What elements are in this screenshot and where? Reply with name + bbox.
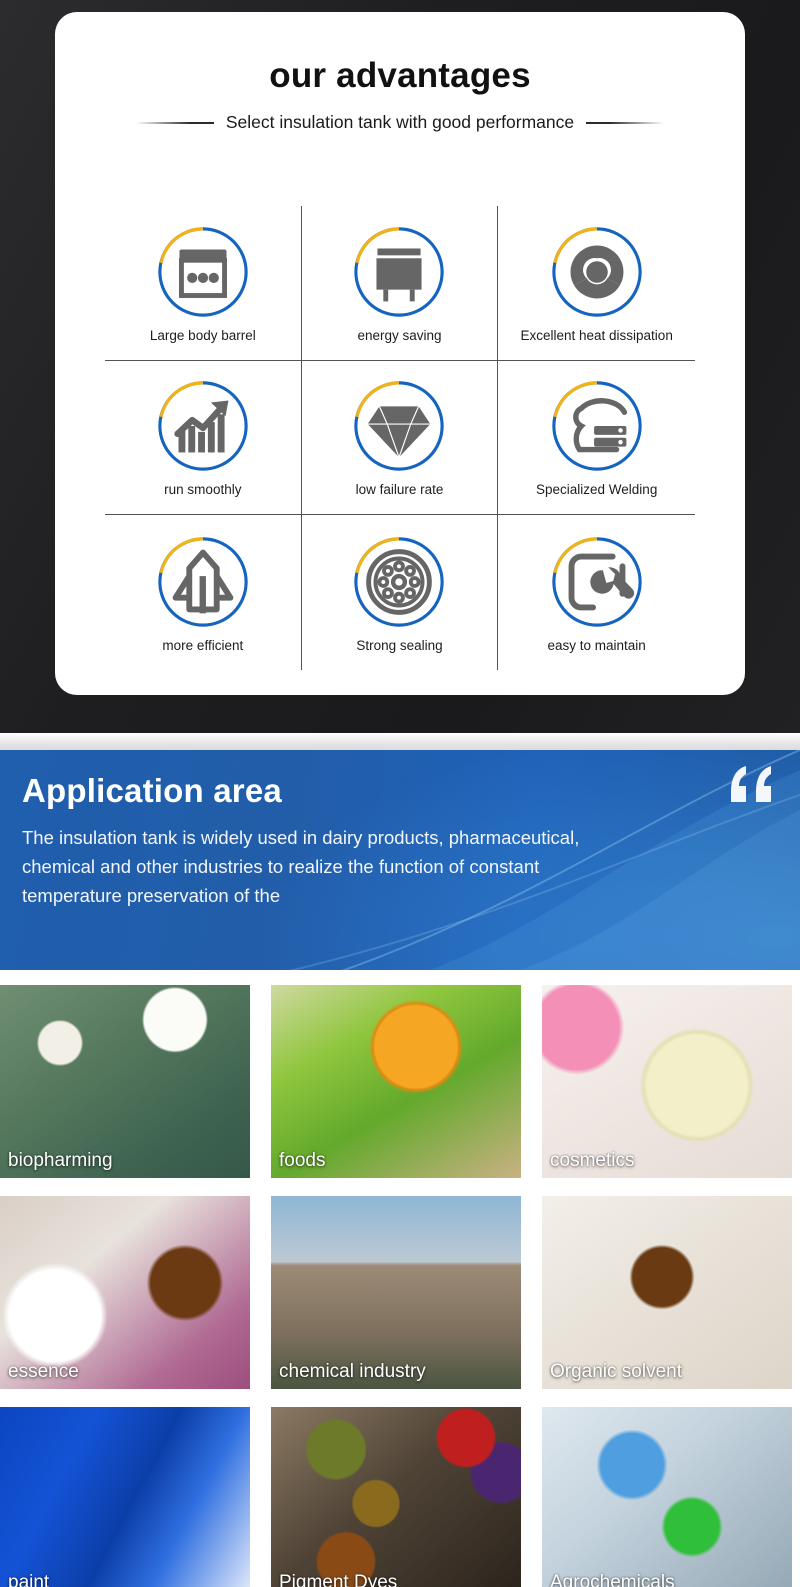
page-subtitle: Select insulation tank with good perform… [226,112,574,133]
growth-chart-icon [154,377,252,475]
gallery-caption: paint [8,1572,49,1587]
gallery-item[interactable]: biopharming [0,985,250,1178]
agrochemicals-photo [542,1407,792,1587]
gallery-caption: chemical industry [279,1361,426,1383]
advantage-label: energy saving [357,328,441,343]
fan-icon [548,223,646,321]
gallery-caption: Pigment Dyes [279,1572,397,1587]
application-description: The insulation tank is widely used in da… [22,823,642,910]
advantages-card: our advantages Select insulation tank wi… [55,12,745,695]
gallery-caption: cosmetics [550,1150,634,1172]
gallery-caption: Agrochemicals [550,1572,675,1587]
subtitle-row: Select insulation tank with good perform… [55,112,745,133]
gallery-caption: foods [279,1150,325,1172]
advantage-label: Excellent heat dissipation [520,328,672,343]
divider-line-right [586,122,664,124]
gallery-item[interactable]: essence [0,1196,250,1389]
quotation-mark-icon [728,762,776,808]
diamond-icon [350,377,448,475]
flange-seal-icon [350,533,448,631]
advantage-cell-energy-saving[interactable]: energy saving [302,206,499,361]
welding-icon [548,377,646,475]
gallery-item[interactable]: Pigment Dyes [271,1407,521,1587]
advantage-cell-strong-sealing[interactable]: Strong sealing [302,515,499,670]
pigment-dyes-photo [271,1407,521,1587]
advantage-cell-large-body-barrel[interactable]: Large body barrel [105,206,302,361]
gallery-item[interactable]: paint [0,1407,250,1587]
gallery-item[interactable]: Organic solvent [542,1196,792,1389]
advantage-cell-low-failure-rate[interactable]: low failure rate [302,361,499,516]
gallery-caption: Organic solvent [550,1361,682,1383]
advantage-label: Strong sealing [356,638,442,653]
paint-photo [0,1407,250,1587]
barrel-icon [154,223,252,321]
gallery-item[interactable]: Agrochemicals [542,1407,792,1587]
advantage-label: Large body barrel [150,328,256,343]
product-detail-page: our advantages Select insulation tank wi… [0,0,800,1587]
gallery-item[interactable]: foods [271,985,521,1178]
advantage-cell-easy-to-maintain[interactable]: easy to maintain [498,515,695,670]
advantage-cell-run-smoothly[interactable]: run smoothly [105,361,302,516]
advantage-label: easy to maintain [548,638,646,653]
divider-line-left [136,122,214,124]
advantage-label: Specialized Welding [536,482,657,497]
section-divider-strip [0,733,800,750]
application-gallery: biopharming foods cosmetics essence chem… [0,985,800,1587]
application-area-section: Application area The insulation tank is … [0,750,800,970]
advantage-cell-specialized-welding[interactable]: Specialized Welding [498,361,695,516]
advantages-section: our advantages Select insulation tank wi… [0,0,800,733]
page-title: our advantages [55,12,745,96]
advantages-grid: Large body barrel energy [105,206,695,670]
advantage-cell-more-efficient[interactable]: more efficient [105,515,302,670]
rocket-icon [154,533,252,631]
wrench-screen-icon [548,533,646,631]
advantage-label: run smoothly [164,482,241,497]
gallery-item[interactable]: cosmetics [542,985,792,1178]
advantage-cell-heat-dissipation[interactable]: Excellent heat dissipation [498,206,695,361]
advantage-label: low failure rate [356,482,444,497]
gallery-caption: biopharming [8,1150,113,1172]
application-title: Application area [22,772,282,810]
gallery-caption: essence [8,1361,79,1383]
gallery-item[interactable]: chemical industry [271,1196,521,1389]
advantage-label: more efficient [162,638,243,653]
transistor-icon [350,223,448,321]
